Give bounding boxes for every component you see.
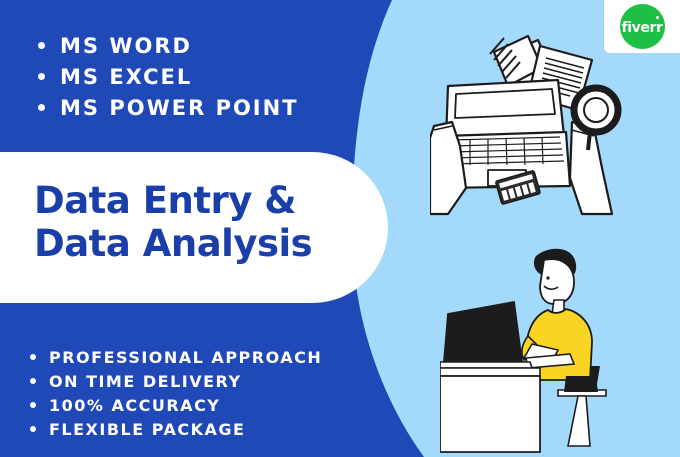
fiverr-registered-dot-icon	[656, 16, 659, 19]
skill-label: MS POWER POINT	[60, 96, 299, 120]
bullet-icon	[30, 402, 36, 408]
list-item: PROFESSIONAL APPROACH	[30, 345, 322, 369]
bullet-icon	[38, 42, 45, 49]
benefit-label: ON TIME DELIVERY	[49, 372, 242, 391]
bullet-icon	[38, 73, 45, 80]
bullet-icon	[30, 426, 36, 432]
title-panel: Data Entry & Data Analysis	[0, 152, 388, 303]
bullet-icon	[30, 354, 36, 360]
list-item: MS EXCEL	[38, 61, 299, 92]
benefit-label: FLEXIBLE PACKAGE	[49, 420, 245, 439]
gig-thumbnail-canvas: fiverr MS WORD MS EXCEL MS POWER POINT D…	[0, 0, 680, 457]
list-item: FLEXIBLE PACKAGE	[30, 417, 322, 441]
skill-label: MS EXCEL	[60, 65, 192, 89]
benefit-label: 100% ACCURACY	[49, 396, 220, 415]
desk-overhead-illustration-icon	[430, 18, 640, 218]
title-line-2: Data Analysis	[34, 223, 312, 266]
list-item: MS POWER POINT	[38, 92, 299, 123]
benefit-label: PROFESSIONAL APPROACH	[49, 348, 322, 367]
benefits-list: PROFESSIONAL APPROACH ON TIME DELIVERY 1…	[30, 345, 322, 441]
list-item: ON TIME DELIVERY	[30, 369, 322, 393]
skills-list: MS WORD MS EXCEL MS POWER POINT	[38, 30, 299, 123]
list-item: 100% ACCURACY	[30, 393, 322, 417]
list-item: MS WORD	[38, 30, 299, 61]
bullet-icon	[38, 104, 45, 111]
skill-label: MS WORD	[60, 34, 192, 58]
person-working-illustration-icon	[440, 240, 655, 455]
title-line-1: Data Entry &	[34, 179, 296, 222]
bullet-icon	[30, 378, 36, 384]
page-title: Data Entry & Data Analysis	[34, 180, 312, 266]
